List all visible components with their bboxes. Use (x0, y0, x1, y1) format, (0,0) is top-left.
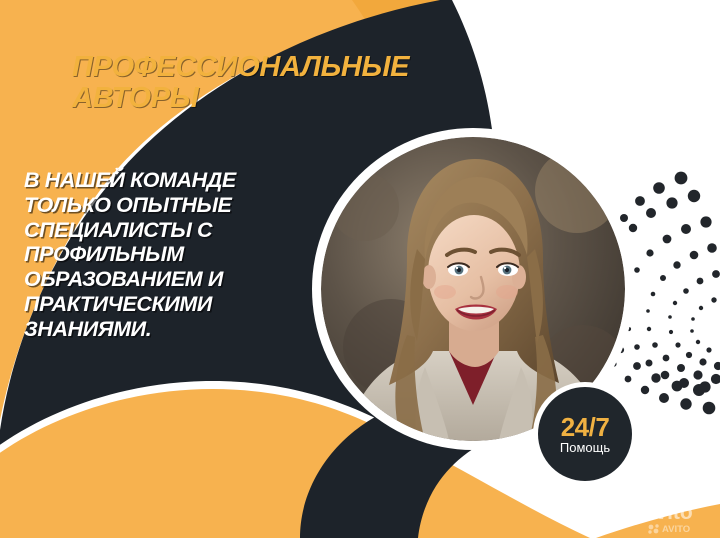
subcopy-text: В НАШЕЙ КОМАНДЕ ТОЛЬКО ОПЫТНЫЕ СПЕЦИАЛИС… (24, 168, 296, 342)
support-badge: 24/7 Помощь (533, 382, 637, 486)
headline-text: ПРОФЕССИОНАЛЬНЫЕ АВТОРЫ (72, 52, 492, 115)
support-badge-hours: 24/7 (561, 414, 610, 440)
support-badge-label: Помощь (560, 441, 610, 454)
promo-banner: ПРОФЕССИОНАЛЬНЫЕ АВТОРЫ В НАШЕЙ КОМАНДЕ … (0, 0, 720, 538)
support-badge-core: 24/7 Помощь (538, 387, 632, 481)
